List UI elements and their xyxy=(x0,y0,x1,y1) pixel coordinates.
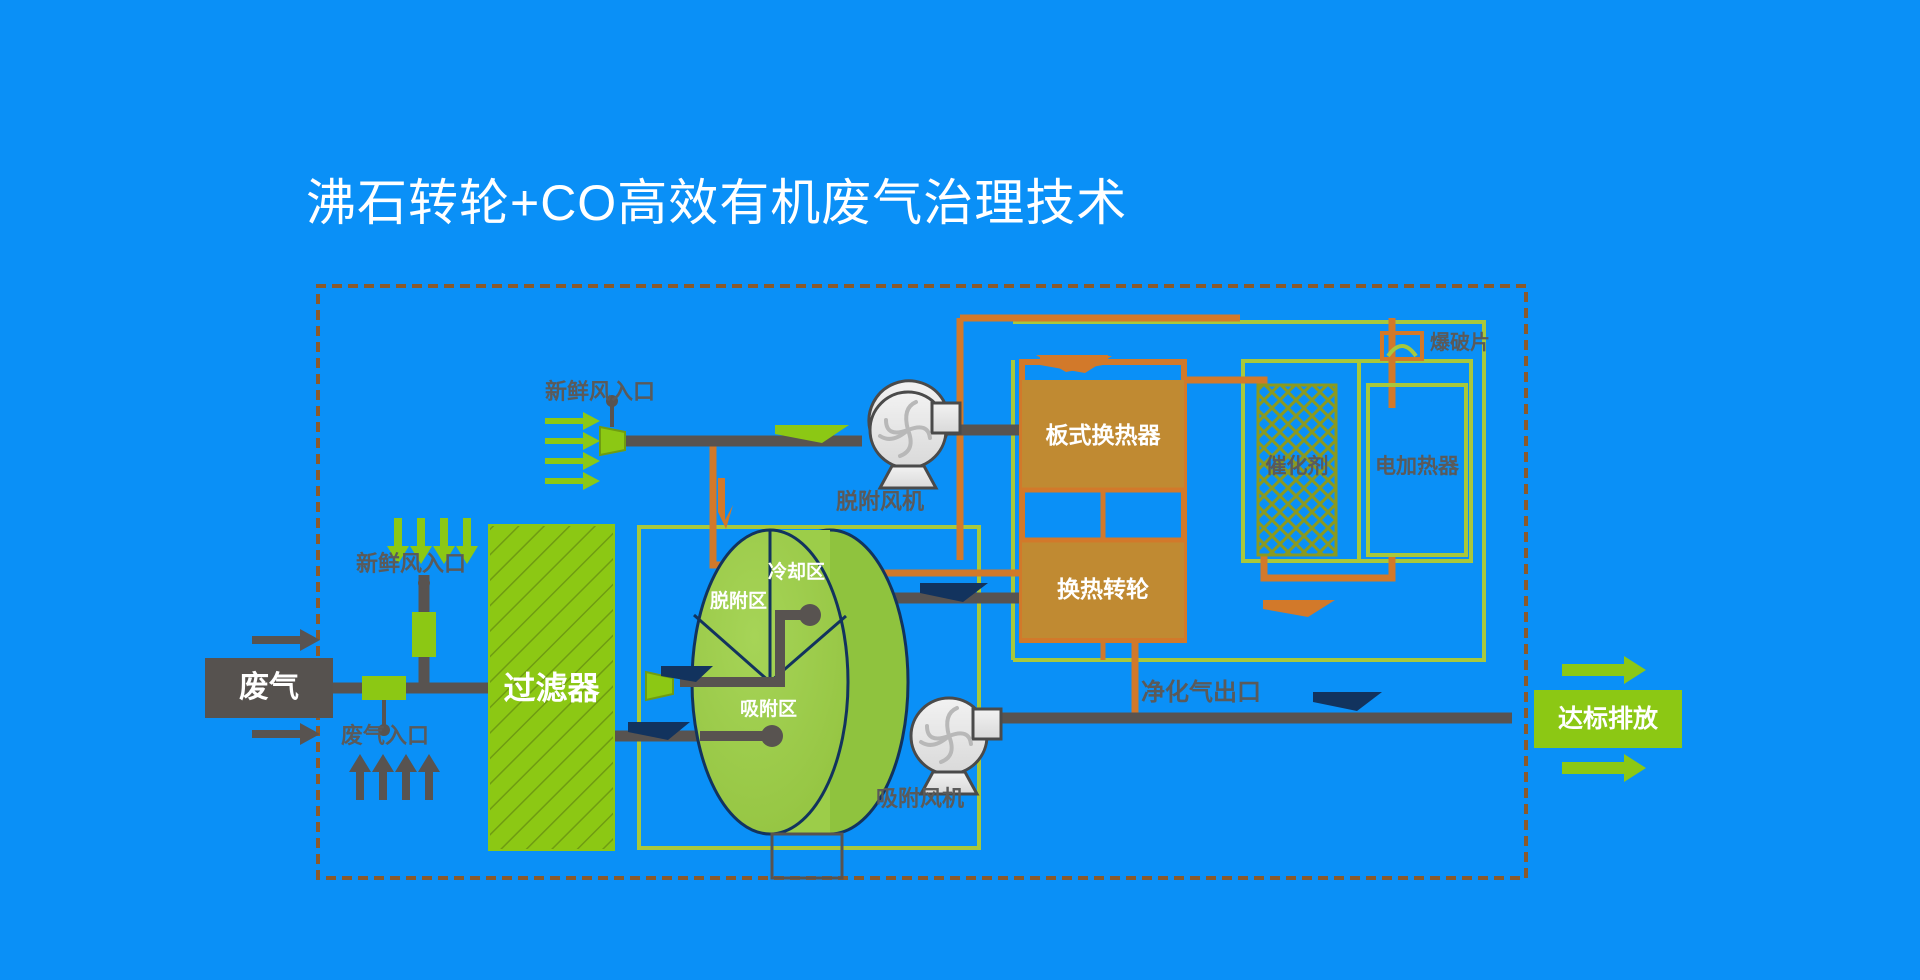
rupture-disc-label: 爆破片 xyxy=(1430,333,1490,353)
discharge-arrow-top xyxy=(1562,656,1646,684)
waste-gas-in-top xyxy=(252,629,320,651)
waste-gas-source-label: 废气 xyxy=(205,658,333,718)
catalyst-label: 催化剂 xyxy=(1258,456,1336,477)
waste-gas-in-bottom xyxy=(252,723,320,745)
heat-exchange-rotor-label: 换热转轮 xyxy=(1022,540,1184,638)
cooling-zone-label: 冷却区 xyxy=(768,563,825,582)
desorption-fan-label: 脱附风机 xyxy=(836,491,924,513)
desorption-zone-label: 脱附区 xyxy=(710,592,767,611)
compliant-discharge-label: 达标排放 xyxy=(1534,690,1682,748)
diagram-canvas: 沸石转轮+CO高效有机废气治理技术 xyxy=(0,0,1920,980)
discharge-arrow-bottom xyxy=(1562,754,1646,782)
desorption-fan-icon[interactable] xyxy=(869,381,960,488)
adsorption-zone-label: 吸附区 xyxy=(740,700,797,719)
fresh-air-inlet-lower-label: 新鲜风入口 xyxy=(356,553,466,575)
waste-gas-inlet-arrows xyxy=(349,754,440,800)
adsorption-fan-icon[interactable] xyxy=(911,698,1001,794)
rotor-cooling-port xyxy=(799,604,821,626)
adsorption-fan-label: 吸附风机 xyxy=(876,788,964,810)
clean-gas-outlet-label: 净化气出口 xyxy=(1141,681,1261,705)
rotor-adsorption-port xyxy=(761,725,783,747)
desorption-riser-arrow xyxy=(718,478,733,529)
fresh-air-upper-arrows xyxy=(545,412,600,490)
fresh-air-damper-upper[interactable] xyxy=(600,395,625,455)
catalyst-outlet-arrow xyxy=(1263,600,1335,617)
process-flow-diagram xyxy=(0,0,1920,980)
plate-heat-exchanger-label: 板式换热器 xyxy=(1022,380,1184,490)
fresh-air-damper-lower[interactable] xyxy=(412,577,436,657)
filter-label: 过滤器 xyxy=(489,525,614,850)
waste-gas-inlet-label: 废气入口 xyxy=(341,725,429,747)
fresh-air-inlet-upper-label: 新鲜风入口 xyxy=(545,381,655,403)
electric-heater-label: 电加热器 xyxy=(1358,456,1476,477)
rupture-disc-symbol[interactable] xyxy=(1382,333,1422,359)
clean-gas-arrow xyxy=(1313,692,1382,711)
